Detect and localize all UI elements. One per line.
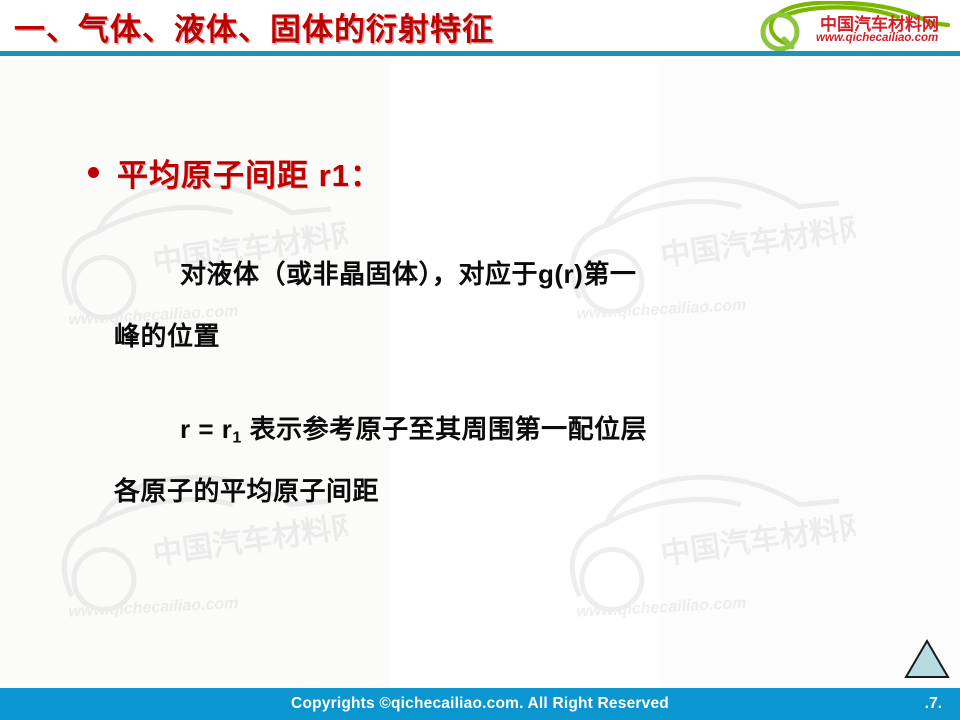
body-paragraph-line: 对液体（或非晶固体），对应于g(r)第一 [114,243,636,305]
paragraph-1-line-1-text: 对液体（或非晶固体），对应于g(r)第一 [180,259,636,289]
paragraph-2-line-2-text: 各原子的平均原子间距 [114,476,379,506]
formula-prefix: r = r [180,414,232,444]
page-title: 一、气体、液体、固体的衍射特征 [14,4,494,49]
bullet-item-label: 平均原子间距 r1： [117,150,382,195]
body-paragraph-line: r = r1 表示参考原子至其周围第一配位层 [114,398,647,469]
brand-url-label: www.qichecailiao.com [816,32,938,44]
page-number-label: .7. [925,695,942,713]
slide-footer: Copyrights ©qichecailiao.com. All Right … [0,688,960,720]
formula-subscript: 1 [232,429,241,447]
bullet-item: 平均原子间距 r1： [88,150,382,195]
body-paragraph-line: 各原子的平均原子间距 [114,460,379,522]
slide-content: 平均原子间距 r1： 对液体（或非晶固体），对应于g(r)第一 峰的位置 r =… [0,58,960,672]
header-divider [0,51,960,56]
slide-header: 一、气体、液体、固体的衍射特征 中国汽车材料网 www.qichecailiao… [0,0,960,58]
paragraph-2-line-1-text: 表示参考原子至其周围第一配位层 [242,414,647,444]
bullet-dot-icon [88,167,99,178]
body-paragraph-line: 峰的位置 [114,305,220,367]
copyright-label: Copyrights ©qichecailiao.com. All Right … [0,695,960,713]
slide-canvas: 中国汽车材料网 www.qichecailiao.com 中国汽车材料网 www… [0,0,960,720]
paragraph-1-line-2-text: 峰的位置 [114,321,220,351]
brand-logo: 中国汽车材料网 www.qichecailiao.com [758,1,954,51]
